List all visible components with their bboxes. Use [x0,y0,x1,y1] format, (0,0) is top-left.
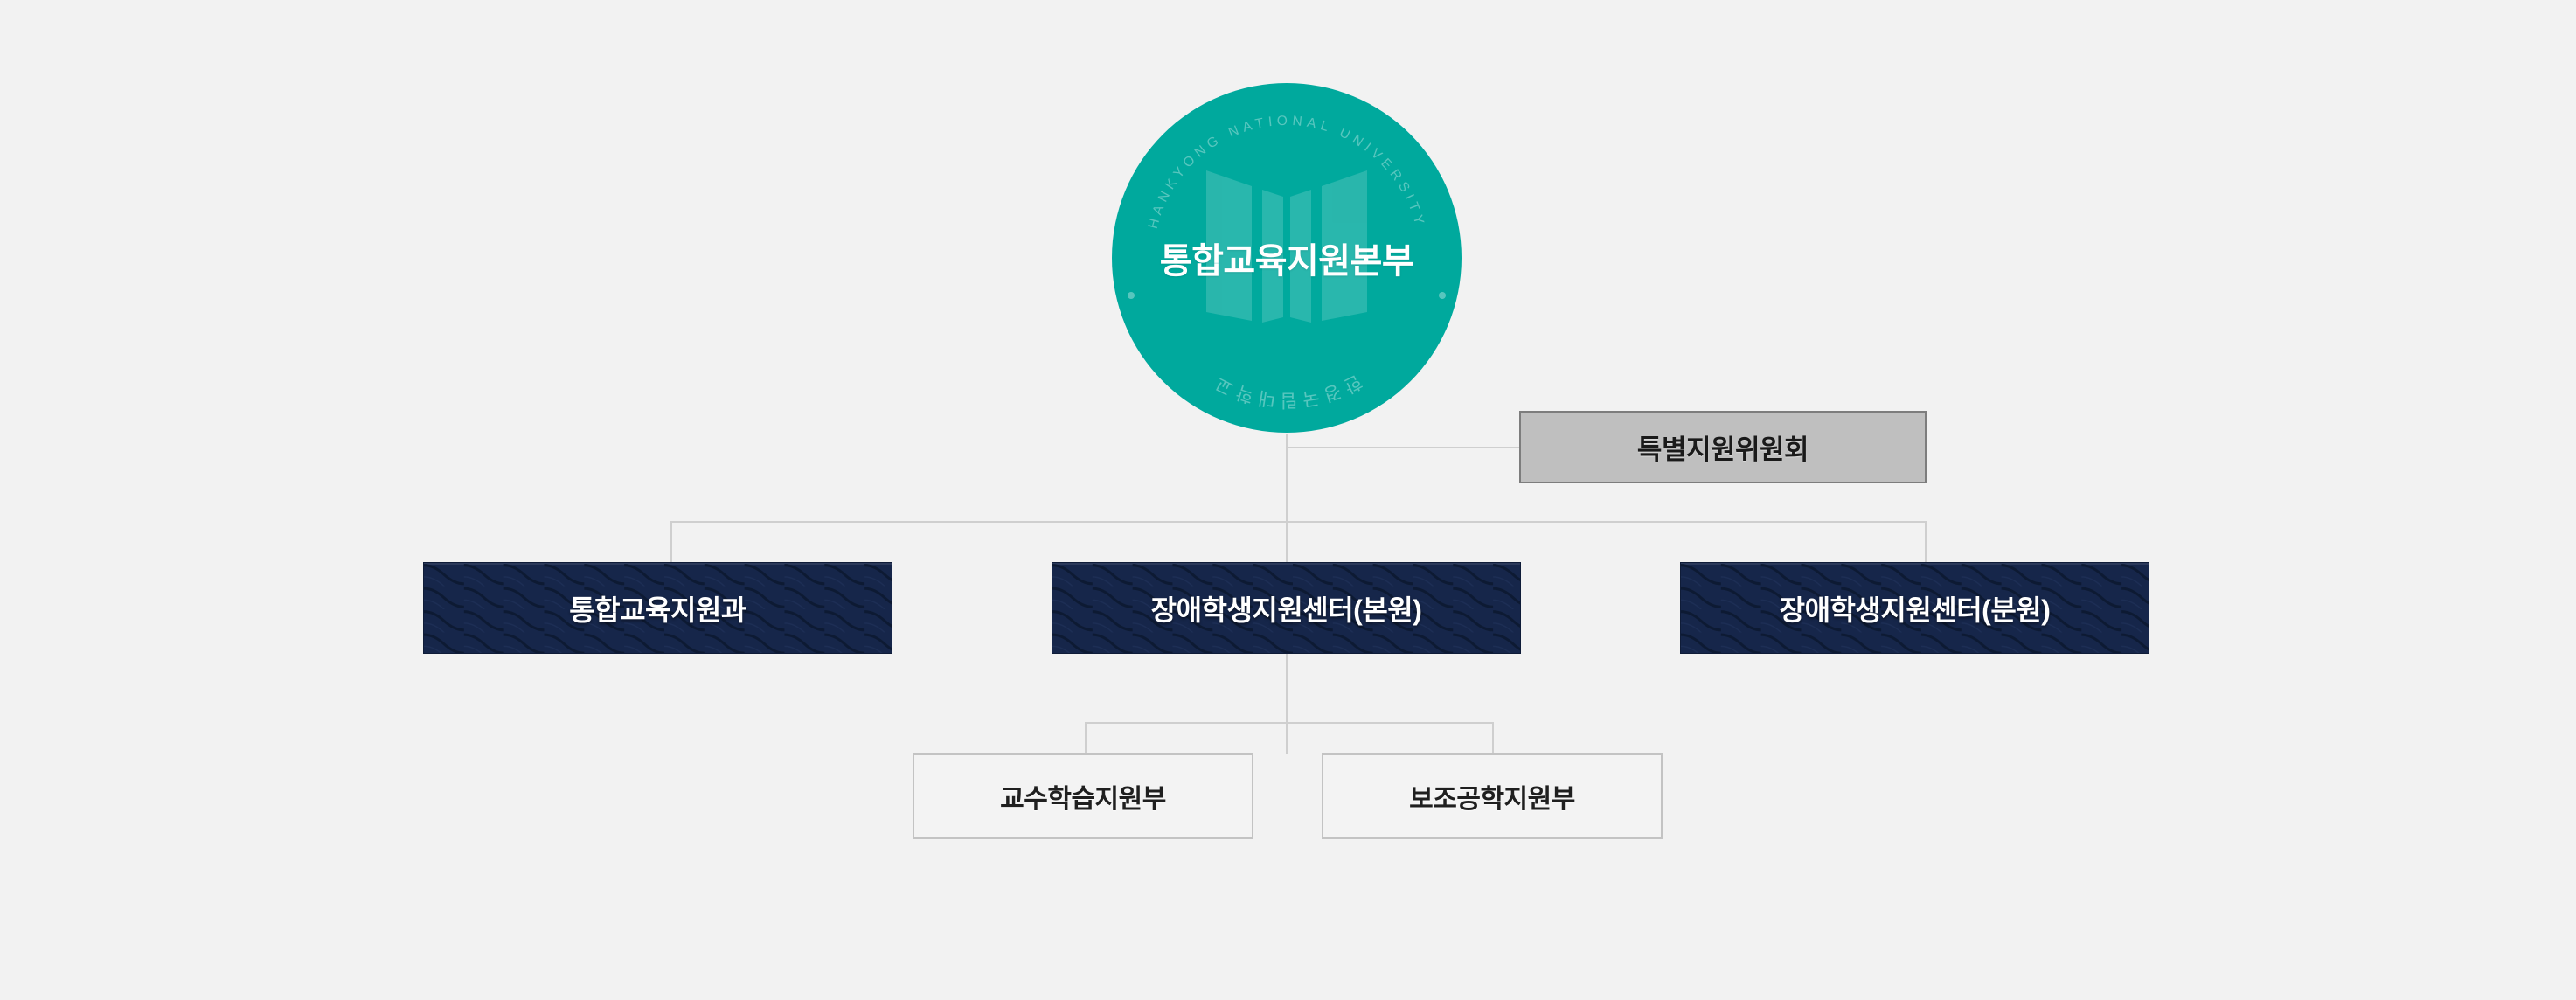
ring-dot-right-icon [1439,292,1446,299]
ring-text-korean-path: 한경국립대학교 [1209,371,1365,410]
node-special-support-committee[interactable]: 특별지원위원회 [1519,411,1927,483]
ring-text-korean: 한경국립대학교 [1209,371,1365,410]
connector-drop-subdept-left [1085,722,1087,754]
connector-subdepartments-bar [1085,722,1494,724]
connector-root-stem [1286,434,1288,562]
connector-departments-bar [670,521,1927,523]
node-label-committee: 특별지원위원회 [1637,427,1809,467]
root-node-headquarters[interactable]: HANKYONG NATIONAL UNIVERSITY 한경국립대학교 통합교… [1112,83,1462,433]
node-integrated-education-support-dept[interactable]: 통합교육지원과 [423,562,892,654]
ring-dot-left-icon [1128,292,1135,299]
node-label-subdept-0: 교수학습지원부 [1000,777,1166,816]
node-label-dept-1: 장애학생지원센터(본원) [1151,588,1422,628]
ring-text-english-path: HANKYONG NATIONAL UNIVERSITY [1146,114,1427,231]
node-label-dept-2: 장애학생지원센터(분원) [1780,588,2051,628]
node-disability-support-center-branch[interactable]: 장애학생지원센터(분원) [1680,562,2149,654]
connector-committee-horizontal [1286,447,1521,448]
connector-drop-dept-right [1925,521,1927,563]
node-teaching-learning-support-div[interactable]: 교수학습지원부 [913,753,1253,839]
connector-drop-subdept-right [1492,722,1494,754]
node-label-dept-0: 통합교육지원과 [569,588,746,628]
connector-drop-dept-left [670,521,672,563]
node-disability-support-center-main[interactable]: 장애학생지원센터(본원) [1052,562,1521,654]
node-assistive-technology-support-div[interactable]: 보조공학지원부 [1322,753,1663,839]
node-label-subdept-1: 보조공학지원부 [1409,777,1575,816]
ring-text-english: HANKYONG NATIONAL UNIVERSITY [1146,114,1427,231]
connector-subdept-stem [1286,654,1288,754]
org-chart: HANKYONG NATIONAL UNIVERSITY 한경국립대학교 통합교… [0,0,2576,1000]
root-node-label: 통합교육지원본부 [1160,233,1413,283]
